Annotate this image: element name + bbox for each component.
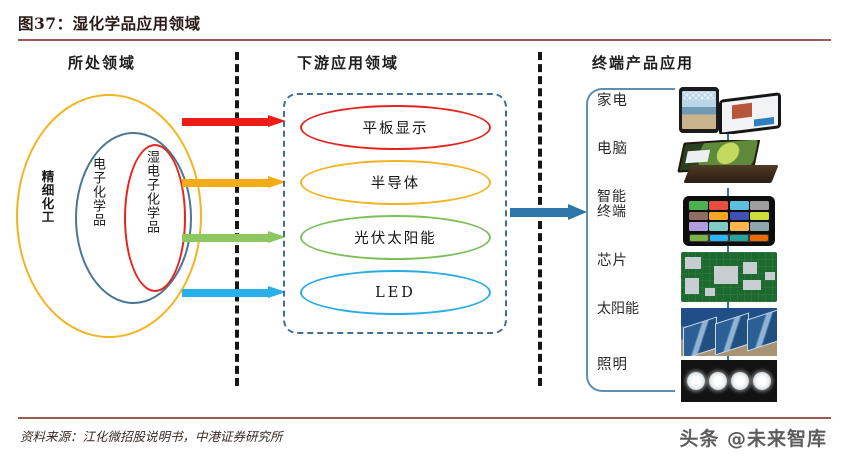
app-icon	[689, 222, 708, 231]
footer-divider-rule	[18, 417, 831, 419]
arrow-shaft	[182, 234, 268, 242]
arrow-to-end-products-icon	[510, 204, 587, 221]
end-product-label-computer: 电脑	[597, 142, 675, 157]
figure-canvas: 图37：湿化学品应用领域 所处领域 下游应用领域 终端产品应用 精细化工 电子化…	[0, 0, 849, 463]
dock-icon	[750, 235, 768, 241]
app-icon	[689, 212, 708, 221]
app-icon	[750, 222, 769, 231]
arrow-head	[568, 204, 587, 220]
solar-scene	[681, 308, 777, 356]
dock-icon	[690, 235, 708, 241]
circuit-board-image	[675, 252, 783, 302]
led-lamp-head	[687, 372, 705, 390]
oval-label-electronic-chemicals: 电子化学品	[91, 157, 104, 227]
pcb-board	[681, 252, 777, 302]
pcb-component	[743, 280, 761, 290]
page-title: 图37：湿化学品应用领域	[18, 12, 201, 34]
column-header-downstream: 下游应用领域	[297, 52, 399, 73]
watermark: 头条 @未来智库	[679, 424, 827, 451]
downstream-item-semiconductor: 半导体	[300, 160, 491, 205]
arrow-to-led-icon	[182, 286, 286, 299]
led-lamp-head	[731, 372, 749, 390]
solar-panel	[715, 312, 749, 355]
oval-label-fine-chemicals: 精细化工	[40, 170, 53, 224]
app-icon	[709, 212, 728, 221]
section-divider-left	[235, 52, 239, 386]
led-lamp-bar	[681, 360, 777, 402]
title-divider-rule	[18, 39, 831, 41]
dock-icon	[730, 235, 748, 241]
tablet-landscape-icon	[719, 92, 781, 134]
arrow-to-photovoltaic-icon	[182, 231, 286, 244]
end-product-label-smart-terminal: 智能 终端	[597, 190, 675, 219]
pcb-port	[685, 257, 701, 269]
solar-panel-image	[675, 308, 783, 356]
pcb-port	[685, 278, 699, 294]
solar-panel	[747, 308, 777, 351]
smart-device-body	[683, 196, 775, 246]
smart-terminal-image	[675, 196, 783, 246]
led-lamp-image	[675, 360, 783, 402]
app-icon	[730, 222, 749, 231]
arrow-shaft	[182, 118, 268, 126]
pcb-connector	[705, 288, 715, 296]
pcb-component	[743, 262, 757, 274]
app-icon	[689, 201, 708, 210]
downstream-item-flat-panel-display: 平板显示	[300, 105, 491, 150]
led-lamp-head	[753, 372, 771, 390]
app-icon	[709, 201, 728, 210]
dock-icon	[710, 235, 728, 241]
app-dock	[689, 234, 769, 242]
app-icon	[750, 201, 769, 210]
end-product-label-solar-energy: 太阳能	[597, 302, 675, 317]
laptop-keyboard-base	[683, 165, 778, 183]
arrow-shaft	[182, 179, 268, 187]
end-product-label-chip: 芯片	[597, 254, 675, 269]
app-icon	[730, 201, 749, 210]
connector-line	[727, 188, 729, 196]
arrow-shaft	[510, 208, 568, 217]
arrow-shaft	[182, 289, 268, 297]
app-icon	[709, 222, 728, 231]
column-header-domain: 所处领域	[68, 52, 136, 73]
arrow-to-semiconductor-icon	[182, 176, 286, 189]
tablet-screen	[682, 91, 716, 129]
app-icon-grid	[689, 201, 769, 231]
oval-label-wet-electronic-chemicals: 湿电子化学品	[145, 150, 158, 234]
tablet-screen	[722, 96, 778, 133]
end-product-label-lighting: 照明	[597, 358, 675, 373]
pcb-connector	[765, 272, 775, 280]
end-product-label-home-appliance: 家电	[597, 94, 675, 109]
led-lamp-head	[709, 372, 727, 390]
solar-panel	[683, 316, 717, 356]
app-icon	[730, 212, 749, 221]
tablets-image	[675, 86, 783, 134]
arrow-to-fpd-icon	[182, 115, 286, 128]
app-grid-dots	[684, 92, 714, 100]
source-note: 资料来源：江化微招股说明书，中港证券研究所	[20, 426, 283, 445]
tablet-portrait-icon	[679, 87, 719, 133]
app-icon	[750, 212, 769, 221]
pcb-cpu-chip	[714, 266, 738, 284]
column-header-end-product: 终端产品应用	[592, 52, 694, 73]
downstream-item-led: LED	[300, 270, 491, 315]
laptop-image	[675, 140, 783, 188]
downstream-item-photovoltaic-solar: 光伏太阳能	[300, 215, 491, 260]
